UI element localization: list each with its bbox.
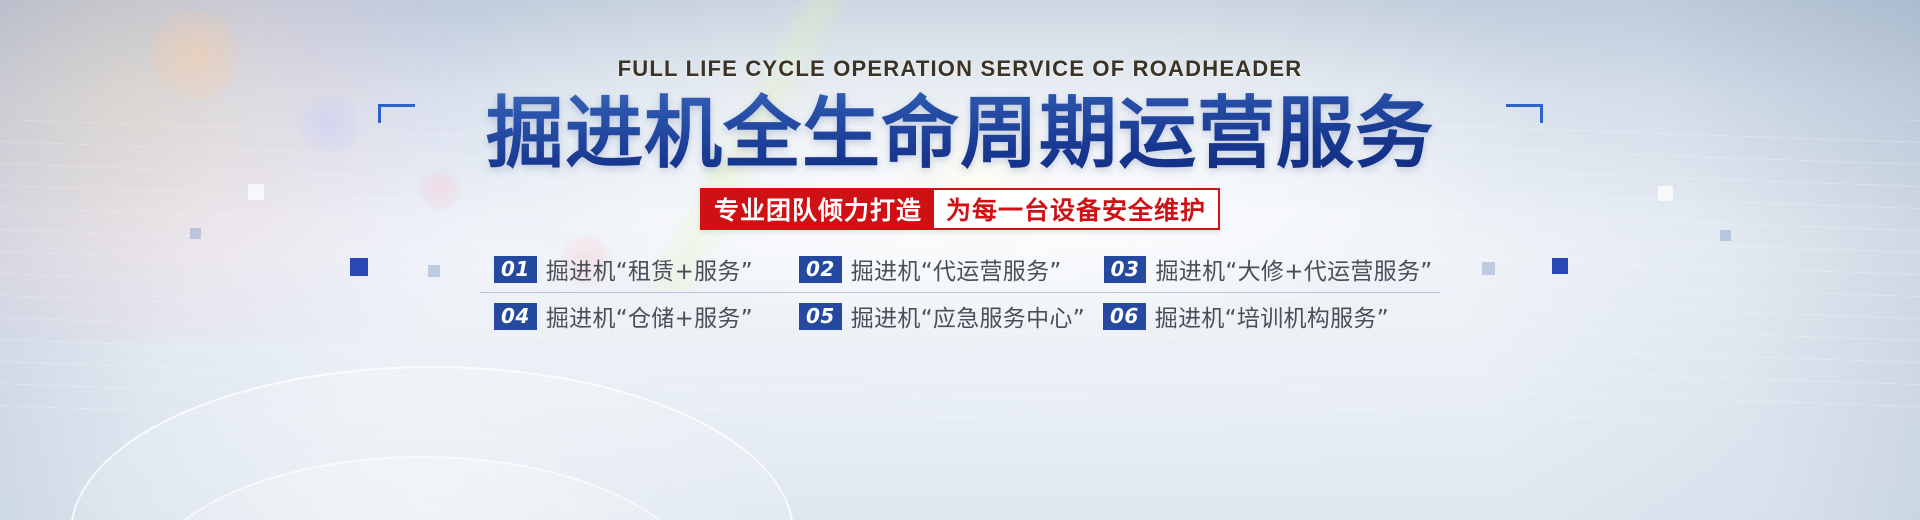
- service-item-06[interactable]: 06 掘进机“培训机构服务”: [1103, 299, 1389, 333]
- service-row-bottom: 04 掘进机“仓储+服务” 05 掘进机“应急服务中心” 06 掘进机“培训机构…: [480, 293, 1440, 339]
- tagline-badge: 专业团队倾力打造 为每一台设备安全维护: [700, 188, 1220, 230]
- service-item-04[interactable]: 04 掘进机“仓储+服务”: [494, 299, 753, 333]
- service-item-01[interactable]: 01 掘进机“租赁+服务”: [494, 252, 753, 286]
- service-number-badge: 05: [799, 303, 842, 330]
- banner-content: FULL LIFE CYCLE OPERATION SERVICE OF ROA…: [0, 0, 1920, 520]
- service-number-badge: 01: [494, 256, 537, 283]
- service-item-03[interactable]: 03 掘进机“大修+代运营服务”: [1104, 252, 1433, 286]
- tagline-secondary: 为每一台设备安全维护: [934, 190, 1218, 228]
- service-number-badge: 03: [1104, 256, 1147, 283]
- service-label: 掘进机“大修+代运营服务”: [1155, 252, 1432, 286]
- tagline-primary: 专业团队倾力打造: [702, 190, 934, 228]
- service-label: 掘进机“租赁+服务”: [546, 252, 753, 286]
- service-item-05[interactable]: 05 掘进机“应急服务中心”: [799, 299, 1085, 333]
- banner-eyebrow-text: FULL LIFE CYCLE OPERATION SERVICE OF ROA…: [0, 56, 1920, 82]
- page-title: 掘进机全生命周期运营服务: [0, 86, 1920, 182]
- service-label: 掘进机“应急服务中心”: [851, 299, 1085, 333]
- roadheader-service-banner: FULL LIFE CYCLE OPERATION SERVICE OF ROA…: [0, 0, 1920, 520]
- service-label: 掘进机“代运营服务”: [851, 252, 1062, 286]
- service-number-badge: 04: [494, 303, 537, 330]
- service-row-top: 01 掘进机“租赁+服务” 02 掘进机“代运营服务” 03 掘进机“大修+代运…: [480, 246, 1440, 293]
- service-number-badge: 06: [1103, 303, 1146, 330]
- service-number-badge: 02: [799, 256, 842, 283]
- service-label: 掘进机“培训机构服务”: [1155, 299, 1389, 333]
- service-item-02[interactable]: 02 掘进机“代运营服务”: [799, 252, 1062, 286]
- service-list: 01 掘进机“租赁+服务” 02 掘进机“代运营服务” 03 掘进机“大修+代运…: [480, 246, 1440, 339]
- service-label: 掘进机“仓储+服务”: [546, 299, 753, 333]
- tagline-wrapper: 专业团队倾力打造 为每一台设备安全维护: [0, 188, 1920, 230]
